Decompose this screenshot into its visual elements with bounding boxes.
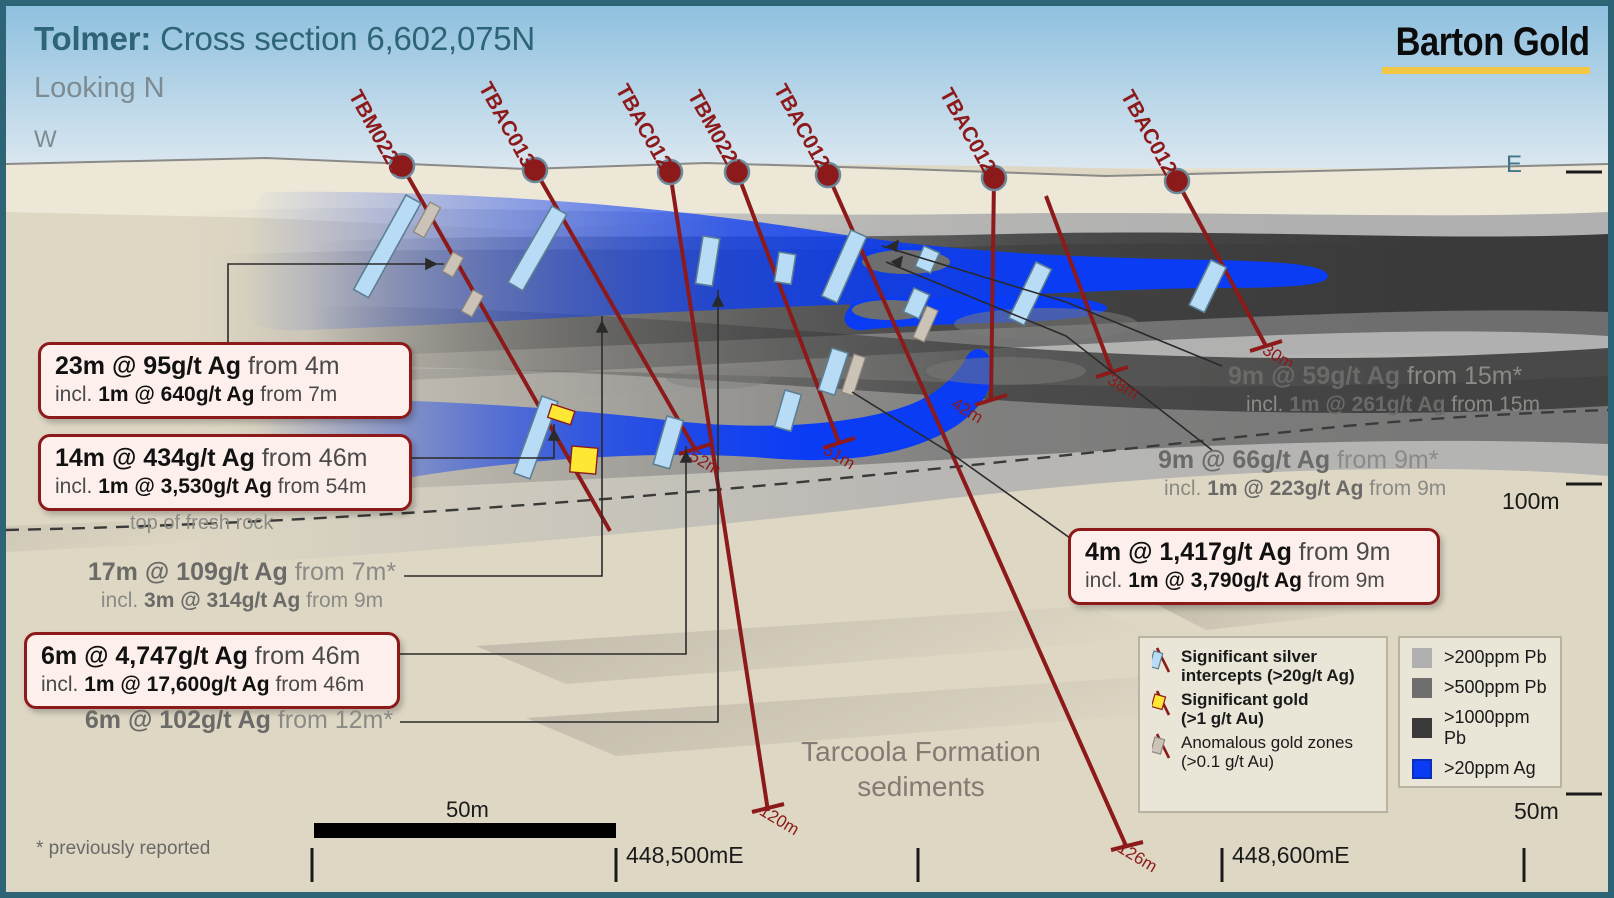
easting-label-448500: 448,500mE <box>626 842 744 869</box>
annotation-9m66-headline: 9m @ 66g/t Ag <box>1158 446 1330 474</box>
legend-gold-line1: Significant gold <box>1181 690 1309 709</box>
callout-6m4747-incl: 1m @ 17,600g/t Ag <box>84 673 269 696</box>
compass-east-label: E <box>1506 151 1522 179</box>
annotation-9m-66gt: 9m @ 66g/t Ag from 9m* incl. 1m @ 223g/t… <box>1158 446 1446 501</box>
callout-4m1417-headline: 4m @ 1,417g/t Ag <box>1085 538 1292 566</box>
callout-4m1417-incl: 1m @ 3,790g/t Ag <box>1128 569 1302 592</box>
legend-color-ag20: >20ppm Ag <box>1412 758 1548 779</box>
callout-6m4747-from: from 46m <box>248 642 361 670</box>
gold-intercept-icon <box>1152 690 1174 716</box>
top-of-fresh-rock-label: top of fresh rock <box>130 512 273 535</box>
company-logo: Barton Gold <box>1364 22 1590 74</box>
elevation-label-50m: 50m <box>1514 798 1559 825</box>
page-subtitle: Looking N <box>34 72 165 105</box>
legend-anomalous-line2: (>0.1 g/t Au) <box>1181 752 1353 771</box>
easting-label-448600: 448,600mE <box>1232 842 1350 869</box>
scalebar-label: 50m <box>446 797 489 823</box>
annotation-17m-from: from 7m* <box>288 558 396 586</box>
annotation-9m66-from: from 9m* <box>1330 446 1438 474</box>
annotation-9m59-headline: 9m @ 59g/t Ag <box>1228 362 1400 390</box>
legend-silver-line2: intercepts (>20g/t Ag) <box>1181 666 1355 685</box>
swatch-ag20-icon <box>1412 759 1432 779</box>
title-suffix: Cross section 6,602,075N <box>151 20 535 57</box>
annotation-17m-incl-from: from 9m <box>300 589 383 612</box>
callout-4m1417-incl-prefix: incl. <box>1085 569 1128 592</box>
callout-14m-from: from 46m <box>255 444 368 472</box>
callout-4m1417-incl-from: from 9m <box>1302 569 1385 592</box>
callout-14m-434gt: 14m @ 434g/t Ag from 46m incl. 1m @ 3,53… <box>38 434 412 511</box>
annotation-17m-109gt: 17m @ 109g/t Ag from 7m* incl. 3m @ 314g… <box>78 558 406 613</box>
pb-blob-1 <box>954 308 1138 340</box>
legend-pb1000-label: >1000ppm Pb <box>1444 707 1548 749</box>
silver-intercept-icon <box>1152 647 1174 673</box>
legend-pb500-label: >500ppm Pb <box>1444 677 1547 698</box>
elevation-label-100m: 100m <box>1502 488 1560 515</box>
annotation-9m59-incl: 1m @ 261g/t Ag <box>1289 393 1445 416</box>
swatch-pb500-icon <box>1412 678 1432 698</box>
callout-23m-incl-prefix: incl. <box>55 383 98 406</box>
legend-item-gold: Significant gold (>1 g/t Au) <box>1152 690 1374 728</box>
callout-23m-incl-from: from 7m <box>254 383 337 406</box>
legend-pb200-label: >200ppm Pb <box>1444 647 1547 668</box>
formation-label: Tarcoola Formation sediments <box>796 734 1046 804</box>
logo-wordmark: Barton Gold <box>1396 22 1590 62</box>
compass-west-label: W <box>34 126 57 154</box>
annotation-9m59-from: from 15m* <box>1400 362 1522 390</box>
legend-silver-line1: Significant silver <box>1181 647 1355 666</box>
callout-4m-1417gt: 4m @ 1,417g/t Ag from 9m incl. 1m @ 3,79… <box>1068 528 1440 605</box>
callout-6m4747-headline: 6m @ 4,747g/t Ag <box>41 642 248 670</box>
callout-23m-from: from 4m <box>241 352 340 380</box>
annotation-9m59-incl-prefix: incl. <box>1246 393 1289 416</box>
annotation-9m-59gt: 9m @ 59g/t Ag from 15m* incl. 1m @ 261g/… <box>1228 362 1540 417</box>
legend-color-pb1000: >1000ppm Pb <box>1412 707 1548 749</box>
formation-line-2: sediments <box>796 769 1046 804</box>
legend-color-pb200: >200ppm Pb <box>1412 647 1548 668</box>
callout-14m-headline: 14m @ 434g/t Ag <box>55 444 255 472</box>
annotation-6m-102gt: 6m @ 102g/t Ag from 12m* <box>76 706 402 736</box>
footnote-previously-reported: * previously reported <box>36 838 210 860</box>
legend-anomalous-line1: Anomalous gold zones <box>1181 733 1353 752</box>
annotation-6m102-from: from 12m* <box>271 706 393 734</box>
legend-item-silver: Significant silver intercepts (>20g/t Ag… <box>1152 647 1374 685</box>
callout-23m-headline: 23m @ 95g/t Ag <box>55 352 241 380</box>
annotation-9m59-incl-from: from 15m <box>1445 393 1540 416</box>
callout-23m-95gt: 23m @ 95g/t Ag from 4m incl. 1m @ 640g/t… <box>38 342 412 419</box>
legend-symbols: Significant silver intercepts (>20g/t Ag… <box>1138 636 1388 813</box>
page-title: Tolmer: Cross section 6,602,075N <box>34 20 535 58</box>
callout-6m4747-incl-from: from 46m <box>270 673 365 696</box>
legend-color-pb500: >500ppm Pb <box>1412 677 1548 698</box>
formation-line-1: Tarcoola Formation <box>796 734 1046 769</box>
callout-6m4747-incl-prefix: incl. <box>41 673 84 696</box>
annotation-9m66-incl-prefix: incl. <box>1164 477 1207 500</box>
legend-item-anomalous: Anomalous gold zones (>0.1 g/t Au) <box>1152 733 1374 771</box>
callout-4m1417-from: from 9m <box>1292 538 1391 566</box>
anomalous-gold-icon <box>1152 733 1174 759</box>
callout-14m-incl-from: from 54m <box>272 475 367 498</box>
annotation-17m-incl-prefix: incl. <box>101 589 144 612</box>
title-prefix: Tolmer: <box>34 20 151 57</box>
legend-gold-line2: (>1 g/t Au) <box>1181 709 1309 728</box>
legend-colors: >200ppm Pb >500ppm Pb >1000ppm Pb >20ppm… <box>1398 636 1562 788</box>
pb-blob-2 <box>926 357 1086 385</box>
annotation-9m66-incl: 1m @ 223g/t Ag <box>1207 477 1363 500</box>
logo-underline-rule <box>1382 67 1590 74</box>
scalebar-bar <box>314 823 616 838</box>
callout-14m-incl: 1m @ 3,530g/t Ag <box>98 475 272 498</box>
callout-6m-4747gt: 6m @ 4,747g/t Ag from 46m incl. 1m @ 17,… <box>24 632 400 709</box>
callout-14m-incl-prefix: incl. <box>55 475 98 498</box>
cross-section-figure: Tolmer: Cross section 6,602,075N Looking… <box>0 0 1614 898</box>
annotation-17m-headline: 17m @ 109g/t Ag <box>88 558 288 586</box>
annotation-9m66-incl-from: from 9m <box>1363 477 1446 500</box>
annotation-6m102-headline: 6m @ 102g/t Ag <box>85 706 271 734</box>
legend-ag20-label: >20ppm Ag <box>1444 758 1536 779</box>
swatch-pb200-icon <box>1412 648 1432 668</box>
annotation-17m-incl: 3m @ 314g/t Ag <box>144 589 300 612</box>
callout-23m-incl: 1m @ 640g/t Ag <box>98 383 254 406</box>
swatch-pb1000-icon <box>1412 718 1432 738</box>
